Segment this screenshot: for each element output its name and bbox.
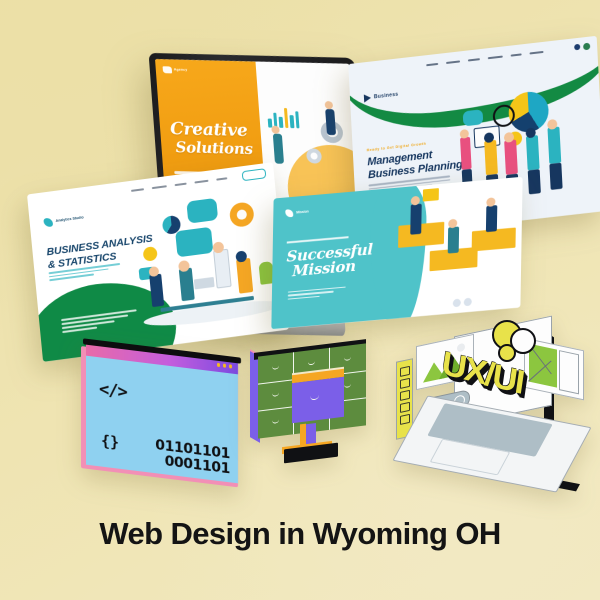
smile-glyph-icon [272, 418, 279, 424]
wireframe-column [559, 350, 579, 394]
tool-icon[interactable] [400, 390, 410, 401]
tool-icon[interactable] [400, 378, 410, 389]
person-figure [410, 204, 421, 235]
code-browser-illustration: </> {} 01101101 0001101 [86, 343, 238, 484]
person-figure [149, 274, 164, 307]
smile-glyph-icon [272, 364, 279, 370]
speech-bubble-icon [463, 109, 484, 126]
iso-monitor-illustration [248, 346, 376, 486]
pagination-dot[interactable] [453, 299, 461, 308]
person-figure [484, 140, 498, 175]
tool-icon[interactable] [400, 414, 410, 425]
tool-icon[interactable] [400, 402, 410, 413]
window-controls[interactable] [217, 363, 233, 368]
uxui-laptop-illustration: UX/UI [392, 322, 582, 494]
nav-link[interactable] [468, 58, 480, 61]
smile-glyph-icon [344, 355, 351, 361]
box-front-face [292, 377, 344, 423]
monitor-headline: Creative Solutions [170, 121, 254, 157]
person-figure [549, 163, 562, 190]
window-dot[interactable] [217, 363, 221, 367]
nav-link[interactable] [175, 183, 187, 187]
person-figure [486, 205, 497, 232]
person-figure [325, 101, 334, 109]
person-figure [504, 140, 518, 175]
person-figure [273, 134, 284, 164]
lightbulb-icon [143, 246, 158, 262]
nav-user-icon[interactable] [574, 44, 580, 51]
person-figure [213, 249, 232, 289]
nav-cta-button[interactable] [242, 168, 267, 181]
successful-mission-card: Mission Successful Mission [271, 177, 522, 329]
card-white-logo: Analytics Studio [43, 213, 84, 227]
nav-link[interactable] [446, 60, 460, 64]
nav-link[interactable] [131, 188, 144, 192]
nav-link[interactable] [152, 185, 167, 189]
monitor-logo-label: Agency [174, 68, 188, 72]
pagination-dots[interactable] [453, 298, 472, 308]
page-title: Web Design in Wyoming OH [0, 516, 600, 552]
monitor-headline-line2: Solutions [175, 140, 253, 158]
business-analysis-card: Analytics Studio BUSINESS ANALYSIS & STA… [27, 162, 289, 362]
card-white-illustration [124, 184, 286, 345]
nav-link[interactable] [488, 56, 503, 60]
person-figure [448, 226, 459, 253]
browser-viewport: </> {} 01101101 0001101 [86, 356, 238, 484]
tool-icon[interactable] [400, 366, 410, 377]
smile-glyph-icon [272, 391, 279, 397]
code-tag-icon: </> [99, 379, 127, 402]
poster-canvas: Agency Creative Solutions [0, 0, 600, 600]
nav-link[interactable] [530, 51, 544, 55]
nav-link[interactable] [426, 63, 438, 66]
card-white-logo-label: Analytics Studio [56, 216, 84, 224]
person-figure [526, 135, 540, 170]
nav-link[interactable] [194, 180, 208, 184]
wireframe-cross-icon [529, 344, 563, 389]
nav-action-icon[interactable] [583, 43, 590, 51]
card-teal-logo-label: Mission [296, 209, 309, 214]
window-dot[interactable] [223, 363, 227, 367]
bar-chart-icon [267, 102, 300, 129]
chevron-right-icon [364, 94, 371, 103]
person-figure [325, 109, 336, 135]
logo-mark-icon [163, 66, 173, 73]
person-figure [179, 268, 195, 302]
curly-braces-icon: {} [101, 432, 119, 452]
flag-icon [423, 188, 439, 201]
smile-glyph-icon [344, 382, 351, 388]
bar-chart-bubble-icon [175, 227, 213, 258]
body-line [288, 296, 320, 300]
logo-mark-icon [43, 217, 53, 227]
person-figure [547, 127, 561, 164]
person-figure [272, 126, 281, 134]
card-teal-illustration [393, 177, 523, 319]
laptop-icon [194, 277, 215, 290]
monitor-logo: Agency [163, 66, 188, 74]
nav-link[interactable] [511, 53, 522, 56]
speech-bubble-icon [186, 198, 218, 224]
person-figure [460, 137, 472, 170]
nav-link[interactable] [216, 177, 227, 180]
binary-text: 01101101 0001101 [155, 438, 230, 479]
window-dot[interactable] [229, 364, 233, 368]
person-figure [528, 169, 541, 194]
person-figure [236, 258, 253, 294]
logo-mark-icon [285, 209, 293, 218]
smile-glyph-icon [308, 360, 315, 366]
pagination-dot[interactable] [464, 298, 472, 307]
